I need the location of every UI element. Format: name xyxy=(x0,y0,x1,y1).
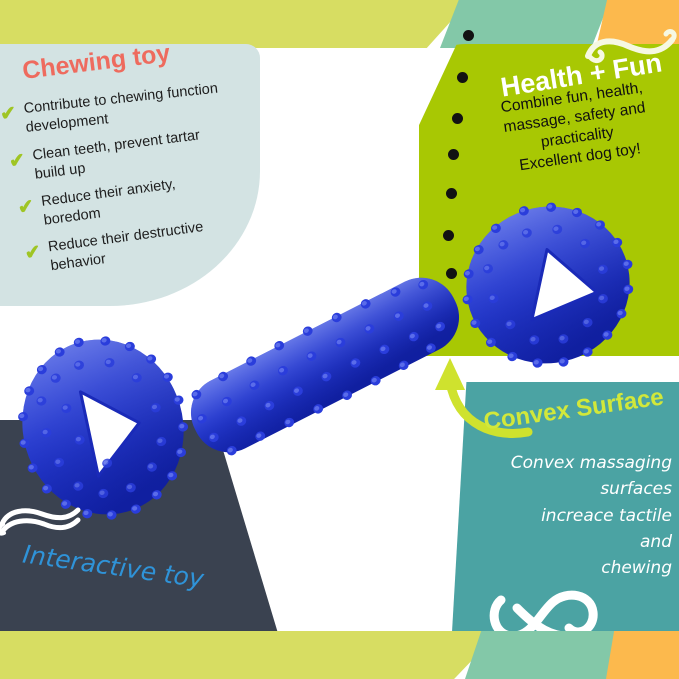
bottom-band-green xyxy=(0,631,500,679)
convex-line: chewing xyxy=(434,555,672,581)
check-icon: ✔ xyxy=(0,108,18,124)
health-dot-column xyxy=(440,22,480,292)
dot-icon xyxy=(446,188,457,199)
ribbon-flourish-icon xyxy=(0,498,82,540)
check-icon: ✔ xyxy=(24,247,43,263)
convex-surface-description: Convex massaging surfaces increace tacti… xyxy=(434,450,672,582)
top-band-green xyxy=(0,0,470,48)
dot-icon xyxy=(448,149,459,160)
dot-icon xyxy=(446,268,457,279)
dot-icon xyxy=(452,113,463,124)
product-infographic: Chewing toy ✔ Contribute to chewing func… xyxy=(0,0,679,679)
dot-icon xyxy=(463,30,474,41)
convex-line: increace tactile xyxy=(434,503,672,529)
chewing-benefits-list: ✔ Contribute to chewing function develop… xyxy=(0,78,247,285)
check-icon: ✔ xyxy=(9,155,28,171)
bottom-band-orange xyxy=(606,631,679,679)
dot-icon xyxy=(443,230,454,241)
convex-line: and xyxy=(434,529,672,555)
convex-line: Convex massaging surfaces xyxy=(434,450,672,503)
check-icon: ✔ xyxy=(17,201,36,217)
dot-icon xyxy=(457,72,468,83)
